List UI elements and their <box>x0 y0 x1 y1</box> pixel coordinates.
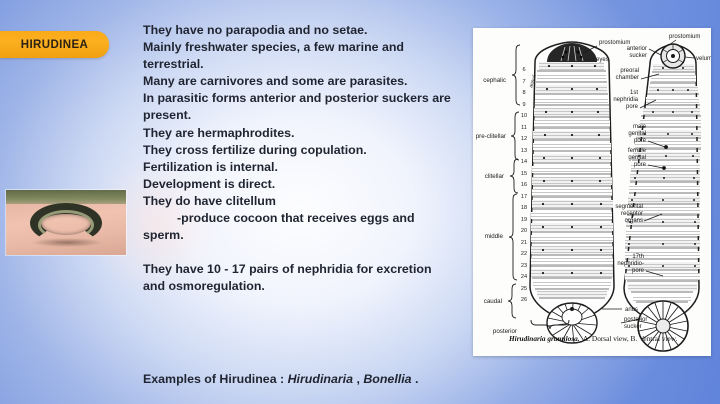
body-line: Mainly freshwater species, a few marine … <box>143 39 465 56</box>
callout-prostomium-ventral: prostomium <box>669 34 700 40</box>
segment-number: 9 <box>522 102 525 108</box>
segment-number: 19 <box>521 217 527 223</box>
body-line: They have no parapodia and no setae. <box>143 22 465 39</box>
callout-velum: velum <box>696 56 711 62</box>
segment-number: 11 <box>521 125 527 131</box>
callout-anterior-sucker-2: sucker <box>629 53 647 59</box>
segment-number: 14 <box>521 159 527 165</box>
segment-number: 22 <box>521 251 527 257</box>
callout-1st-nephridial-pore-3: pore <box>626 104 639 110</box>
body-line: sperm. <box>143 227 465 244</box>
segment-number: 10 <box>521 113 527 119</box>
segment-number: 26 <box>521 297 527 303</box>
segment-number: 18 <box>521 205 527 211</box>
segment-number: 24 <box>521 274 527 280</box>
callout-17th-nephridiopore-2: nephridio- <box>617 261 644 267</box>
body-line: and osmoregulation. <box>143 278 465 295</box>
species-name-1: Hirudinaria <box>288 372 353 386</box>
segment-number: 23 <box>521 263 527 269</box>
segment-number: 7 <box>522 79 525 85</box>
callout-preoral-chamber-1: preoral <box>620 68 639 74</box>
callout-segmental-receptor-2: receptor <box>621 211 643 217</box>
examples-separator: , <box>353 372 363 386</box>
body-line: They do have clitellum <box>143 193 465 210</box>
dorsal-view-body <box>530 42 614 343</box>
body-line-indented: -produce cocoon that receives eggs and <box>143 210 465 227</box>
callout-posterior-sucker-1: posterior <box>624 317 647 323</box>
callout-prostomium-dorsal: prostomium <box>599 40 630 46</box>
callout-posterior-sucker-2: sucker <box>624 324 642 330</box>
callout-anterior-sucker: anterior <box>627 46 647 52</box>
callout-17th-nephridiopore-1: 17th <box>632 254 644 260</box>
leech-photo <box>6 190 126 255</box>
segment-number: 20 <box>521 228 527 234</box>
body-line: In parasitic forms anterior and posterio… <box>143 90 465 107</box>
callout-female-genital-pore-1: female <box>628 148 647 154</box>
callout-segmental-receptor-3: organs <box>625 218 643 224</box>
figure-caption: Hirudinaria granulosa. A. Dorsal view, B… <box>508 334 678 343</box>
body-line: They have 10 - 17 pairs of nephridia for… <box>143 261 465 278</box>
title-badge: HIRUDINEA <box>0 31 109 58</box>
segment-number: 17 <box>521 194 527 200</box>
body-line: present. <box>143 107 465 124</box>
segment-number: 6 <box>522 67 525 73</box>
body-line: Fertilization is internal. <box>143 159 465 176</box>
anatomy-diagram-svg: cephalic pre-clitellar clitellar middle … <box>473 28 711 356</box>
segment-number: 8 <box>522 90 525 96</box>
leech-shadow <box>32 238 102 247</box>
callout-female-genital-pore-3: pore <box>634 162 647 168</box>
region-label-cephalic: cephalic <box>483 77 506 84</box>
paragraph-gap <box>143 244 465 261</box>
body-line: terrestrial. <box>143 56 465 73</box>
body-line: Many are carnivores and some are parasit… <box>143 73 465 90</box>
segment-number: 13 <box>521 148 527 154</box>
body-line: They cross fertilize during copulation. <box>143 142 465 159</box>
examples-line: Examples of Hirudinea : Hirudinaria , Bo… <box>143 372 473 386</box>
callout-1st-nephridial-pore-1: 1st <box>630 90 638 96</box>
caption-rest: A. Dorsal view, B. Ventral view. <box>583 334 678 343</box>
body-line: Development is direct. <box>143 176 465 193</box>
region-label-middle: middle <box>485 233 504 240</box>
callout-segmental-receptor-1: segmental <box>615 204 643 210</box>
callout-1st-nephridial-pore-2: nephridia <box>613 97 638 103</box>
callout-male-genital-pore-2: genital <box>628 131 646 137</box>
region-label-pre-clitellar: pre-clitellar <box>476 133 506 140</box>
callout-17th-nephridiopore-3: pore <box>632 268 645 274</box>
callout-preoral-chamber-2: chamber <box>616 75 639 81</box>
region-label-clitellar: clitellar <box>485 173 504 180</box>
species-name-2: Bonellia <box>363 372 411 386</box>
segment-number: 21 <box>521 240 527 246</box>
examples-suffix: . <box>412 372 419 386</box>
callout-female-genital-pore-2: genital <box>628 155 646 161</box>
segment-number: 15 <box>521 171 527 177</box>
caption-species: Hirudinaria granulosa. <box>508 334 580 343</box>
segment-number: 25 <box>521 286 527 292</box>
body-text-block: They have no parapodia and no setae. Mai… <box>143 22 465 295</box>
segment-number: 12 <box>521 136 527 142</box>
examples-prefix: Examples of Hirudinea : <box>143 372 288 386</box>
leech-dorsal-stripe <box>38 210 94 240</box>
hirudinaria-anatomy-figure: cephalic pre-clitellar clitellar middle … <box>473 28 711 356</box>
callout-male-genital-pore-3: pore <box>634 138 647 144</box>
slide-canvas: HIRUDINEA They have no parapodia and no … <box>0 0 720 404</box>
callout-eyes: eyes <box>596 57 609 63</box>
callout-anus: anus <box>625 307 638 313</box>
body-line: They are hermaphrodites. <box>143 125 465 142</box>
segment-number: 16 <box>521 182 527 188</box>
callout-male-genital-pore-1: male <box>633 124 647 130</box>
title-badge-label: HIRUDINEA <box>21 39 89 51</box>
photo-background-band <box>6 190 126 204</box>
region-label-caudal: caudal <box>484 298 502 305</box>
